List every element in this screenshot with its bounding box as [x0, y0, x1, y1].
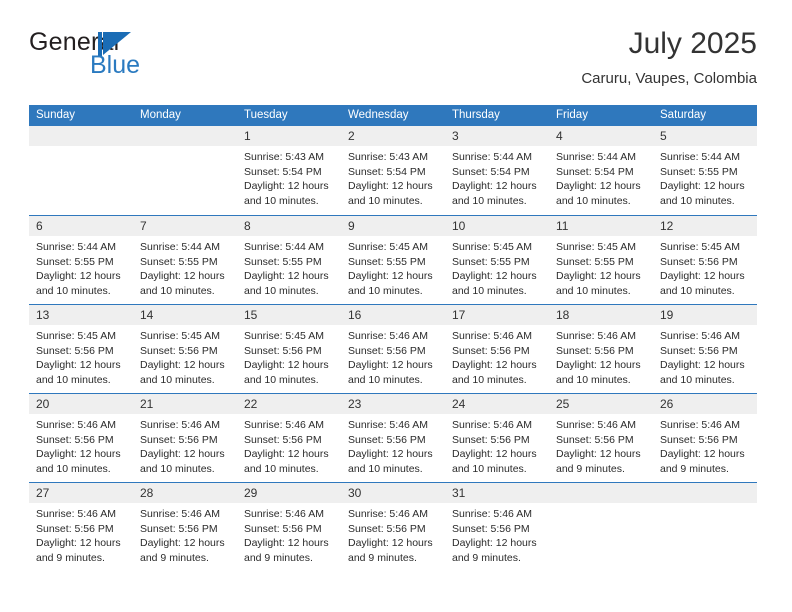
day-cell-17[interactable]: 17Sunrise: 5:46 AMSunset: 5:56 PMDayligh…: [445, 305, 549, 393]
day-detail-line: and 10 minutes.: [36, 284, 126, 299]
day-number-band: [549, 483, 653, 503]
day-detail-line: Daylight: 12 hours: [452, 179, 542, 194]
day-detail-text: Sunrise: 5:46 AMSunset: 5:56 PMDaylight:…: [29, 503, 133, 565]
day-detail-line: Sunset: 5:56 PM: [452, 522, 542, 537]
day-detail-line: Sunrise: 5:45 AM: [348, 240, 438, 255]
day-detail-line: Sunset: 5:56 PM: [36, 344, 126, 359]
day-cell-8[interactable]: 8Sunrise: 5:44 AMSunset: 5:55 PMDaylight…: [237, 216, 341, 304]
day-number: 29: [244, 486, 257, 500]
day-detail-line: Sunset: 5:56 PM: [36, 522, 126, 537]
day-number-band: 6: [29, 216, 133, 236]
day-detail-line: Sunset: 5:56 PM: [660, 344, 750, 359]
day-detail-text: Sunrise: 5:44 AMSunset: 5:55 PMDaylight:…: [237, 236, 341, 298]
day-cell-29[interactable]: 29Sunrise: 5:46 AMSunset: 5:56 PMDayligh…: [237, 483, 341, 571]
day-detail-line: Daylight: 12 hours: [140, 358, 230, 373]
day-detail-line: Daylight: 12 hours: [452, 536, 542, 551]
day-number-band: 28: [133, 483, 237, 503]
day-detail-text: Sunrise: 5:44 AMSunset: 5:55 PMDaylight:…: [653, 146, 757, 208]
day-number-band: 29: [237, 483, 341, 503]
day-detail-line: Sunset: 5:54 PM: [556, 165, 646, 180]
day-detail-line: and 10 minutes.: [348, 462, 438, 477]
day-detail-line: Sunset: 5:56 PM: [660, 433, 750, 448]
day-cell-1[interactable]: 1Sunrise: 5:43 AMSunset: 5:54 PMDaylight…: [237, 126, 341, 215]
title-block: July 2025 Caruru, Vaupes, Colombia: [581, 26, 757, 88]
day-detail-line: Sunset: 5:56 PM: [244, 433, 334, 448]
day-number: 1: [244, 129, 251, 143]
day-detail-line: Sunset: 5:55 PM: [556, 255, 646, 270]
day-detail-line: Sunset: 5:56 PM: [244, 522, 334, 537]
day-number: 18: [556, 308, 569, 322]
day-detail-line: Daylight: 12 hours: [556, 358, 646, 373]
day-detail-line: and 10 minutes.: [660, 284, 750, 299]
day-detail-line: Sunset: 5:56 PM: [140, 433, 230, 448]
day-detail-line: Sunset: 5:56 PM: [556, 433, 646, 448]
day-detail-text: Sunrise: 5:46 AMSunset: 5:56 PMDaylight:…: [445, 503, 549, 565]
day-detail-text: Sunrise: 5:44 AMSunset: 5:55 PMDaylight:…: [29, 236, 133, 298]
day-cell-19[interactable]: 19Sunrise: 5:46 AMSunset: 5:56 PMDayligh…: [653, 305, 757, 393]
day-number-band: 30: [341, 483, 445, 503]
day-detail-line: Sunrise: 5:46 AM: [660, 418, 750, 433]
brand-name-blue: Blue: [90, 51, 140, 80]
day-detail-line: Daylight: 12 hours: [140, 269, 230, 284]
day-number: 4: [556, 129, 563, 143]
day-detail-line: Daylight: 12 hours: [36, 269, 126, 284]
day-detail-text: Sunrise: 5:46 AMSunset: 5:56 PMDaylight:…: [341, 414, 445, 476]
day-detail-line: and 10 minutes.: [556, 284, 646, 299]
day-number: 12: [660, 219, 673, 233]
day-detail-line: Daylight: 12 hours: [140, 536, 230, 551]
day-number-band: 2: [341, 126, 445, 146]
day-detail-line: Sunrise: 5:46 AM: [140, 418, 230, 433]
day-detail-text: Sunrise: 5:46 AMSunset: 5:56 PMDaylight:…: [237, 414, 341, 476]
day-number: 28: [140, 486, 153, 500]
day-detail-line: Daylight: 12 hours: [452, 447, 542, 462]
day-number-band: 23: [341, 394, 445, 414]
day-detail-text: Sunrise: 5:46 AMSunset: 5:56 PMDaylight:…: [29, 414, 133, 476]
day-detail-text: Sunrise: 5:46 AMSunset: 5:56 PMDaylight:…: [653, 414, 757, 476]
day-detail-line: Sunrise: 5:46 AM: [348, 418, 438, 433]
day-detail-line: and 9 minutes.: [452, 551, 542, 566]
day-number: 31: [452, 486, 465, 500]
day-number-band: 27: [29, 483, 133, 503]
weekday-header-thursday: Thursday: [445, 105, 549, 126]
day-detail-text: Sunrise: 5:46 AMSunset: 5:56 PMDaylight:…: [445, 325, 549, 387]
day-detail-line: Daylight: 12 hours: [556, 269, 646, 284]
calendar-week-row: 20Sunrise: 5:46 AMSunset: 5:56 PMDayligh…: [29, 393, 757, 482]
day-detail-line: Sunrise: 5:46 AM: [660, 329, 750, 344]
day-number-band: 22: [237, 394, 341, 414]
day-detail-line: Sunrise: 5:46 AM: [452, 507, 542, 522]
day-number: 3: [452, 129, 459, 143]
day-number-band: [653, 483, 757, 503]
day-detail-line: and 10 minutes.: [140, 462, 230, 477]
day-cell-6[interactable]: 6Sunrise: 5:44 AMSunset: 5:55 PMDaylight…: [29, 216, 133, 304]
day-detail-line: Sunrise: 5:46 AM: [36, 507, 126, 522]
day-detail-line: and 9 minutes.: [556, 462, 646, 477]
day-detail-line: Daylight: 12 hours: [452, 269, 542, 284]
day-detail-line: Daylight: 12 hours: [660, 447, 750, 462]
day-detail-text: Sunrise: 5:43 AMSunset: 5:54 PMDaylight:…: [341, 146, 445, 208]
day-number: 9: [348, 219, 355, 233]
day-detail-line: Sunrise: 5:44 AM: [244, 240, 334, 255]
day-detail-line: Daylight: 12 hours: [660, 179, 750, 194]
calendar-week-row: 27Sunrise: 5:46 AMSunset: 5:56 PMDayligh…: [29, 482, 757, 571]
weekday-header-friday: Friday: [549, 105, 653, 126]
day-number-band: 4: [549, 126, 653, 146]
day-detail-line: Sunset: 5:56 PM: [348, 433, 438, 448]
day-cell-10[interactable]: 10Sunrise: 5:45 AMSunset: 5:55 PMDayligh…: [445, 216, 549, 304]
day-number: 15: [244, 308, 257, 322]
day-cell-31[interactable]: 31Sunrise: 5:46 AMSunset: 5:56 PMDayligh…: [445, 483, 549, 571]
day-cell-13[interactable]: 13Sunrise: 5:45 AMSunset: 5:56 PMDayligh…: [29, 305, 133, 393]
day-detail-line: and 10 minutes.: [244, 462, 334, 477]
day-detail-line: and 10 minutes.: [660, 194, 750, 209]
weekday-header-sunday: Sunday: [29, 105, 133, 126]
weekday-header-wednesday: Wednesday: [341, 105, 445, 126]
day-detail-line: Sunrise: 5:45 AM: [660, 240, 750, 255]
day-number: 23: [348, 397, 361, 411]
day-detail-line: Daylight: 12 hours: [36, 447, 126, 462]
day-cell-12[interactable]: 12Sunrise: 5:45 AMSunset: 5:56 PMDayligh…: [653, 216, 757, 304]
day-cell-5[interactable]: 5Sunrise: 5:44 AMSunset: 5:55 PMDaylight…: [653, 126, 757, 215]
day-detail-line: and 10 minutes.: [452, 194, 542, 209]
day-cell-24[interactable]: 24Sunrise: 5:46 AMSunset: 5:56 PMDayligh…: [445, 394, 549, 482]
weekday-header-tuesday: Tuesday: [237, 105, 341, 126]
day-detail-text: Sunrise: 5:46 AMSunset: 5:56 PMDaylight:…: [549, 325, 653, 387]
day-number: 13: [36, 308, 49, 322]
day-detail-text: Sunrise: 5:45 AMSunset: 5:56 PMDaylight:…: [237, 325, 341, 387]
day-detail-line: Sunset: 5:55 PM: [36, 255, 126, 270]
day-detail-line: Sunrise: 5:46 AM: [452, 418, 542, 433]
day-detail-line: Sunset: 5:54 PM: [244, 165, 334, 180]
day-detail-line: Daylight: 12 hours: [244, 447, 334, 462]
day-cell-20[interactable]: 20Sunrise: 5:46 AMSunset: 5:56 PMDayligh…: [29, 394, 133, 482]
weekday-header-row: SundayMondayTuesdayWednesdayThursdayFrid…: [29, 105, 757, 126]
day-detail-text: Sunrise: 5:46 AMSunset: 5:56 PMDaylight:…: [237, 503, 341, 565]
day-detail-line: Daylight: 12 hours: [244, 179, 334, 194]
day-number-band: 20: [29, 394, 133, 414]
day-detail-line: Sunset: 5:56 PM: [556, 344, 646, 359]
day-detail-line: Daylight: 12 hours: [36, 358, 126, 373]
day-detail-line: Sunrise: 5:45 AM: [452, 240, 542, 255]
day-detail-line: Sunset: 5:56 PM: [660, 255, 750, 270]
day-detail-line: Daylight: 12 hours: [348, 269, 438, 284]
day-detail-line: and 10 minutes.: [452, 284, 542, 299]
day-detail-line: Sunrise: 5:46 AM: [140, 507, 230, 522]
day-number-band: 26: [653, 394, 757, 414]
day-cell-18[interactable]: 18Sunrise: 5:46 AMSunset: 5:56 PMDayligh…: [549, 305, 653, 393]
day-cell-empty: [29, 126, 133, 215]
day-detail-line: Sunrise: 5:44 AM: [140, 240, 230, 255]
day-detail-line: Sunset: 5:55 PM: [244, 255, 334, 270]
day-number-band: 13: [29, 305, 133, 325]
day-cell-3[interactable]: 3Sunrise: 5:44 AMSunset: 5:54 PMDaylight…: [445, 126, 549, 215]
day-number: 11: [556, 219, 568, 233]
day-detail-line: Sunset: 5:56 PM: [348, 522, 438, 537]
day-detail-line: and 9 minutes.: [36, 551, 126, 566]
day-number: 17: [452, 308, 465, 322]
day-detail-line: Sunrise: 5:46 AM: [556, 329, 646, 344]
day-detail-line: Daylight: 12 hours: [36, 536, 126, 551]
calendar-week-row: 1Sunrise: 5:43 AMSunset: 5:54 PMDaylight…: [29, 126, 757, 215]
day-detail-line: Sunset: 5:56 PM: [140, 522, 230, 537]
day-detail-line: Sunrise: 5:46 AM: [36, 418, 126, 433]
day-number: 22: [244, 397, 257, 411]
day-detail-line: Daylight: 12 hours: [348, 179, 438, 194]
day-detail-line: and 10 minutes.: [140, 373, 230, 388]
day-detail-line: Sunset: 5:56 PM: [452, 344, 542, 359]
day-detail-line: Daylight: 12 hours: [348, 536, 438, 551]
day-detail-line: Sunrise: 5:43 AM: [244, 150, 334, 165]
day-detail-line: Sunset: 5:56 PM: [140, 344, 230, 359]
day-number: 25: [556, 397, 569, 411]
day-number: 14: [140, 308, 153, 322]
day-number: 26: [660, 397, 673, 411]
page-subtitle: Caruru, Vaupes, Colombia: [581, 70, 757, 88]
day-detail-line: and 10 minutes.: [556, 194, 646, 209]
calendar-grid: SundayMondayTuesdayWednesdayThursdayFrid…: [29, 105, 757, 571]
day-detail-line: Sunrise: 5:44 AM: [36, 240, 126, 255]
day-detail-line: Daylight: 12 hours: [660, 358, 750, 373]
day-number-band: 3: [445, 126, 549, 146]
day-cell-11[interactable]: 11Sunrise: 5:45 AMSunset: 5:55 PMDayligh…: [549, 216, 653, 304]
day-cell-27[interactable]: 27Sunrise: 5:46 AMSunset: 5:56 PMDayligh…: [29, 483, 133, 571]
day-detail-line: Sunset: 5:54 PM: [452, 165, 542, 180]
day-number-band: 14: [133, 305, 237, 325]
day-detail-line: and 10 minutes.: [348, 284, 438, 299]
day-detail-line: and 10 minutes.: [452, 462, 542, 477]
day-cell-15[interactable]: 15Sunrise: 5:45 AMSunset: 5:56 PMDayligh…: [237, 305, 341, 393]
day-detail-text: Sunrise: 5:45 AMSunset: 5:55 PMDaylight:…: [549, 236, 653, 298]
day-detail-line: Sunrise: 5:45 AM: [36, 329, 126, 344]
day-number: 10: [452, 219, 465, 233]
day-detail-line: Daylight: 12 hours: [244, 536, 334, 551]
day-detail-line: and 10 minutes.: [244, 373, 334, 388]
calendar-week-row: 13Sunrise: 5:45 AMSunset: 5:56 PMDayligh…: [29, 304, 757, 393]
day-detail-text: Sunrise: 5:44 AMSunset: 5:55 PMDaylight:…: [133, 236, 237, 298]
day-cell-30[interactable]: 30Sunrise: 5:46 AMSunset: 5:56 PMDayligh…: [341, 483, 445, 571]
day-detail-line: Sunrise: 5:46 AM: [348, 329, 438, 344]
day-detail-text: Sunrise: 5:45 AMSunset: 5:56 PMDaylight:…: [133, 325, 237, 387]
day-detail-text: Sunrise: 5:45 AMSunset: 5:56 PMDaylight:…: [653, 236, 757, 298]
day-detail-text: Sunrise: 5:44 AMSunset: 5:54 PMDaylight:…: [445, 146, 549, 208]
day-cell-28[interactable]: 28Sunrise: 5:46 AMSunset: 5:56 PMDayligh…: [133, 483, 237, 571]
calendar-week-row: 6Sunrise: 5:44 AMSunset: 5:55 PMDaylight…: [29, 215, 757, 304]
day-number-band: 17: [445, 305, 549, 325]
day-detail-line: Daylight: 12 hours: [348, 358, 438, 373]
day-detail-line: Sunset: 5:55 PM: [140, 255, 230, 270]
day-detail-line: Sunset: 5:56 PM: [36, 433, 126, 448]
day-detail-line: Sunset: 5:54 PM: [348, 165, 438, 180]
day-detail-text: Sunrise: 5:46 AMSunset: 5:56 PMDaylight:…: [653, 325, 757, 387]
day-detail-line: Sunrise: 5:46 AM: [244, 418, 334, 433]
day-detail-line: Sunrise: 5:44 AM: [556, 150, 646, 165]
day-detail-line: Sunrise: 5:46 AM: [452, 329, 542, 344]
day-detail-line: and 10 minutes.: [348, 194, 438, 209]
day-detail-line: and 10 minutes.: [452, 373, 542, 388]
day-number: 5: [660, 129, 667, 143]
day-number-band: 15: [237, 305, 341, 325]
day-detail-text: Sunrise: 5:44 AMSunset: 5:54 PMDaylight:…: [549, 146, 653, 208]
day-number-band: [29, 126, 133, 146]
day-number: 20: [36, 397, 49, 411]
day-detail-line: Daylight: 12 hours: [244, 358, 334, 373]
day-number: 7: [140, 219, 147, 233]
day-number-band: 8: [237, 216, 341, 236]
day-detail-line: and 10 minutes.: [36, 373, 126, 388]
day-detail-line: Sunrise: 5:43 AM: [348, 150, 438, 165]
brand-logo[interactable]: General Blue: [29, 26, 269, 86]
day-detail-line: Daylight: 12 hours: [660, 269, 750, 284]
day-cell-22[interactable]: 22Sunrise: 5:46 AMSunset: 5:56 PMDayligh…: [237, 394, 341, 482]
day-cell-16[interactable]: 16Sunrise: 5:46 AMSunset: 5:56 PMDayligh…: [341, 305, 445, 393]
day-detail-line: Sunrise: 5:44 AM: [452, 150, 542, 165]
page-title: July 2025: [581, 26, 757, 62]
day-detail-text: Sunrise: 5:46 AMSunset: 5:56 PMDaylight:…: [341, 325, 445, 387]
day-cell-empty: [653, 483, 757, 571]
day-detail-line: and 10 minutes.: [140, 284, 230, 299]
day-detail-line: and 10 minutes.: [244, 194, 334, 209]
day-detail-line: Sunset: 5:56 PM: [244, 344, 334, 359]
day-number-band: 21: [133, 394, 237, 414]
day-cell-2[interactable]: 2Sunrise: 5:43 AMSunset: 5:54 PMDaylight…: [341, 126, 445, 215]
day-cell-empty: [549, 483, 653, 571]
day-detail-text: Sunrise: 5:46 AMSunset: 5:56 PMDaylight:…: [445, 414, 549, 476]
day-detail-line: Sunrise: 5:45 AM: [556, 240, 646, 255]
day-number: 19: [660, 308, 673, 322]
day-detail-line: and 9 minutes.: [244, 551, 334, 566]
page-header: General Blue July 2025 Caruru, Vaupes, C…: [29, 26, 757, 98]
day-cell-4[interactable]: 4Sunrise: 5:44 AMSunset: 5:54 PMDaylight…: [549, 126, 653, 215]
day-detail-line: Sunset: 5:56 PM: [348, 344, 438, 359]
day-detail-line: Sunrise: 5:46 AM: [348, 507, 438, 522]
day-cell-21[interactable]: 21Sunrise: 5:46 AMSunset: 5:56 PMDayligh…: [133, 394, 237, 482]
day-detail-line: Sunrise: 5:44 AM: [660, 150, 750, 165]
day-number-band: 10: [445, 216, 549, 236]
day-detail-text: Sunrise: 5:45 AMSunset: 5:55 PMDaylight:…: [445, 236, 549, 298]
day-detail-line: Sunrise: 5:45 AM: [244, 329, 334, 344]
day-detail-line: and 9 minutes.: [660, 462, 750, 477]
day-detail-line: and 10 minutes.: [556, 373, 646, 388]
weekday-header-monday: Monday: [133, 105, 237, 126]
day-number-band: 1: [237, 126, 341, 146]
day-detail-line: Daylight: 12 hours: [452, 358, 542, 373]
day-number-band: 16: [341, 305, 445, 325]
day-number-band: [133, 126, 237, 146]
day-detail-line: and 9 minutes.: [348, 551, 438, 566]
day-detail-line: Sunset: 5:55 PM: [660, 165, 750, 180]
calendar-page: General Blue July 2025 Caruru, Vaupes, C…: [0, 0, 792, 612]
day-number-band: 19: [653, 305, 757, 325]
day-number-band: 18: [549, 305, 653, 325]
day-number: 2: [348, 129, 355, 143]
day-number: 16: [348, 308, 361, 322]
day-detail-line: Daylight: 12 hours: [556, 447, 646, 462]
day-cell-9[interactable]: 9Sunrise: 5:45 AMSunset: 5:55 PMDaylight…: [341, 216, 445, 304]
day-detail-line: Daylight: 12 hours: [140, 447, 230, 462]
day-number-band: 25: [549, 394, 653, 414]
day-number-band: 9: [341, 216, 445, 236]
day-detail-line: and 9 minutes.: [140, 551, 230, 566]
day-detail-line: Sunrise: 5:46 AM: [244, 507, 334, 522]
day-number: 8: [244, 219, 251, 233]
day-number: 24: [452, 397, 465, 411]
day-cell-7[interactable]: 7Sunrise: 5:44 AMSunset: 5:55 PMDaylight…: [133, 216, 237, 304]
day-detail-line: Daylight: 12 hours: [244, 269, 334, 284]
day-detail-line: Sunrise: 5:46 AM: [556, 418, 646, 433]
day-detail-text: Sunrise: 5:45 AMSunset: 5:56 PMDaylight:…: [29, 325, 133, 387]
day-number: 30: [348, 486, 361, 500]
day-number-band: 5: [653, 126, 757, 146]
calendar-weeks: 1Sunrise: 5:43 AMSunset: 5:54 PMDaylight…: [29, 126, 757, 571]
day-number-band: 11: [549, 216, 653, 236]
day-number: 27: [36, 486, 49, 500]
day-number-band: 7: [133, 216, 237, 236]
day-cell-26[interactable]: 26Sunrise: 5:46 AMSunset: 5:56 PMDayligh…: [653, 394, 757, 482]
day-detail-line: and 10 minutes.: [244, 284, 334, 299]
day-detail-text: Sunrise: 5:46 AMSunset: 5:56 PMDaylight:…: [133, 414, 237, 476]
day-cell-25[interactable]: 25Sunrise: 5:46 AMSunset: 5:56 PMDayligh…: [549, 394, 653, 482]
day-number-band: 24: [445, 394, 549, 414]
day-number: 6: [36, 219, 43, 233]
weekday-header-saturday: Saturday: [653, 105, 757, 126]
day-detail-line: and 10 minutes.: [660, 373, 750, 388]
day-cell-14[interactable]: 14Sunrise: 5:45 AMSunset: 5:56 PMDayligh…: [133, 305, 237, 393]
day-detail-line: and 10 minutes.: [348, 373, 438, 388]
day-cell-23[interactable]: 23Sunrise: 5:46 AMSunset: 5:56 PMDayligh…: [341, 394, 445, 482]
day-detail-line: Sunrise: 5:45 AM: [140, 329, 230, 344]
day-detail-line: Sunset: 5:56 PM: [452, 433, 542, 448]
day-detail-line: Daylight: 12 hours: [348, 447, 438, 462]
day-detail-line: Daylight: 12 hours: [556, 179, 646, 194]
day-number-band: 12: [653, 216, 757, 236]
day-number: 21: [140, 397, 153, 411]
day-detail-line: Sunset: 5:55 PM: [348, 255, 438, 270]
day-cell-empty: [133, 126, 237, 215]
day-detail-line: Sunset: 5:55 PM: [452, 255, 542, 270]
day-detail-text: Sunrise: 5:46 AMSunset: 5:56 PMDaylight:…: [549, 414, 653, 476]
day-detail-line: and 10 minutes.: [36, 462, 126, 477]
day-detail-text: Sunrise: 5:46 AMSunset: 5:56 PMDaylight:…: [341, 503, 445, 565]
day-detail-text: Sunrise: 5:46 AMSunset: 5:56 PMDaylight:…: [133, 503, 237, 565]
day-detail-text: Sunrise: 5:45 AMSunset: 5:55 PMDaylight:…: [341, 236, 445, 298]
day-detail-text: Sunrise: 5:43 AMSunset: 5:54 PMDaylight:…: [237, 146, 341, 208]
day-number-band: 31: [445, 483, 549, 503]
